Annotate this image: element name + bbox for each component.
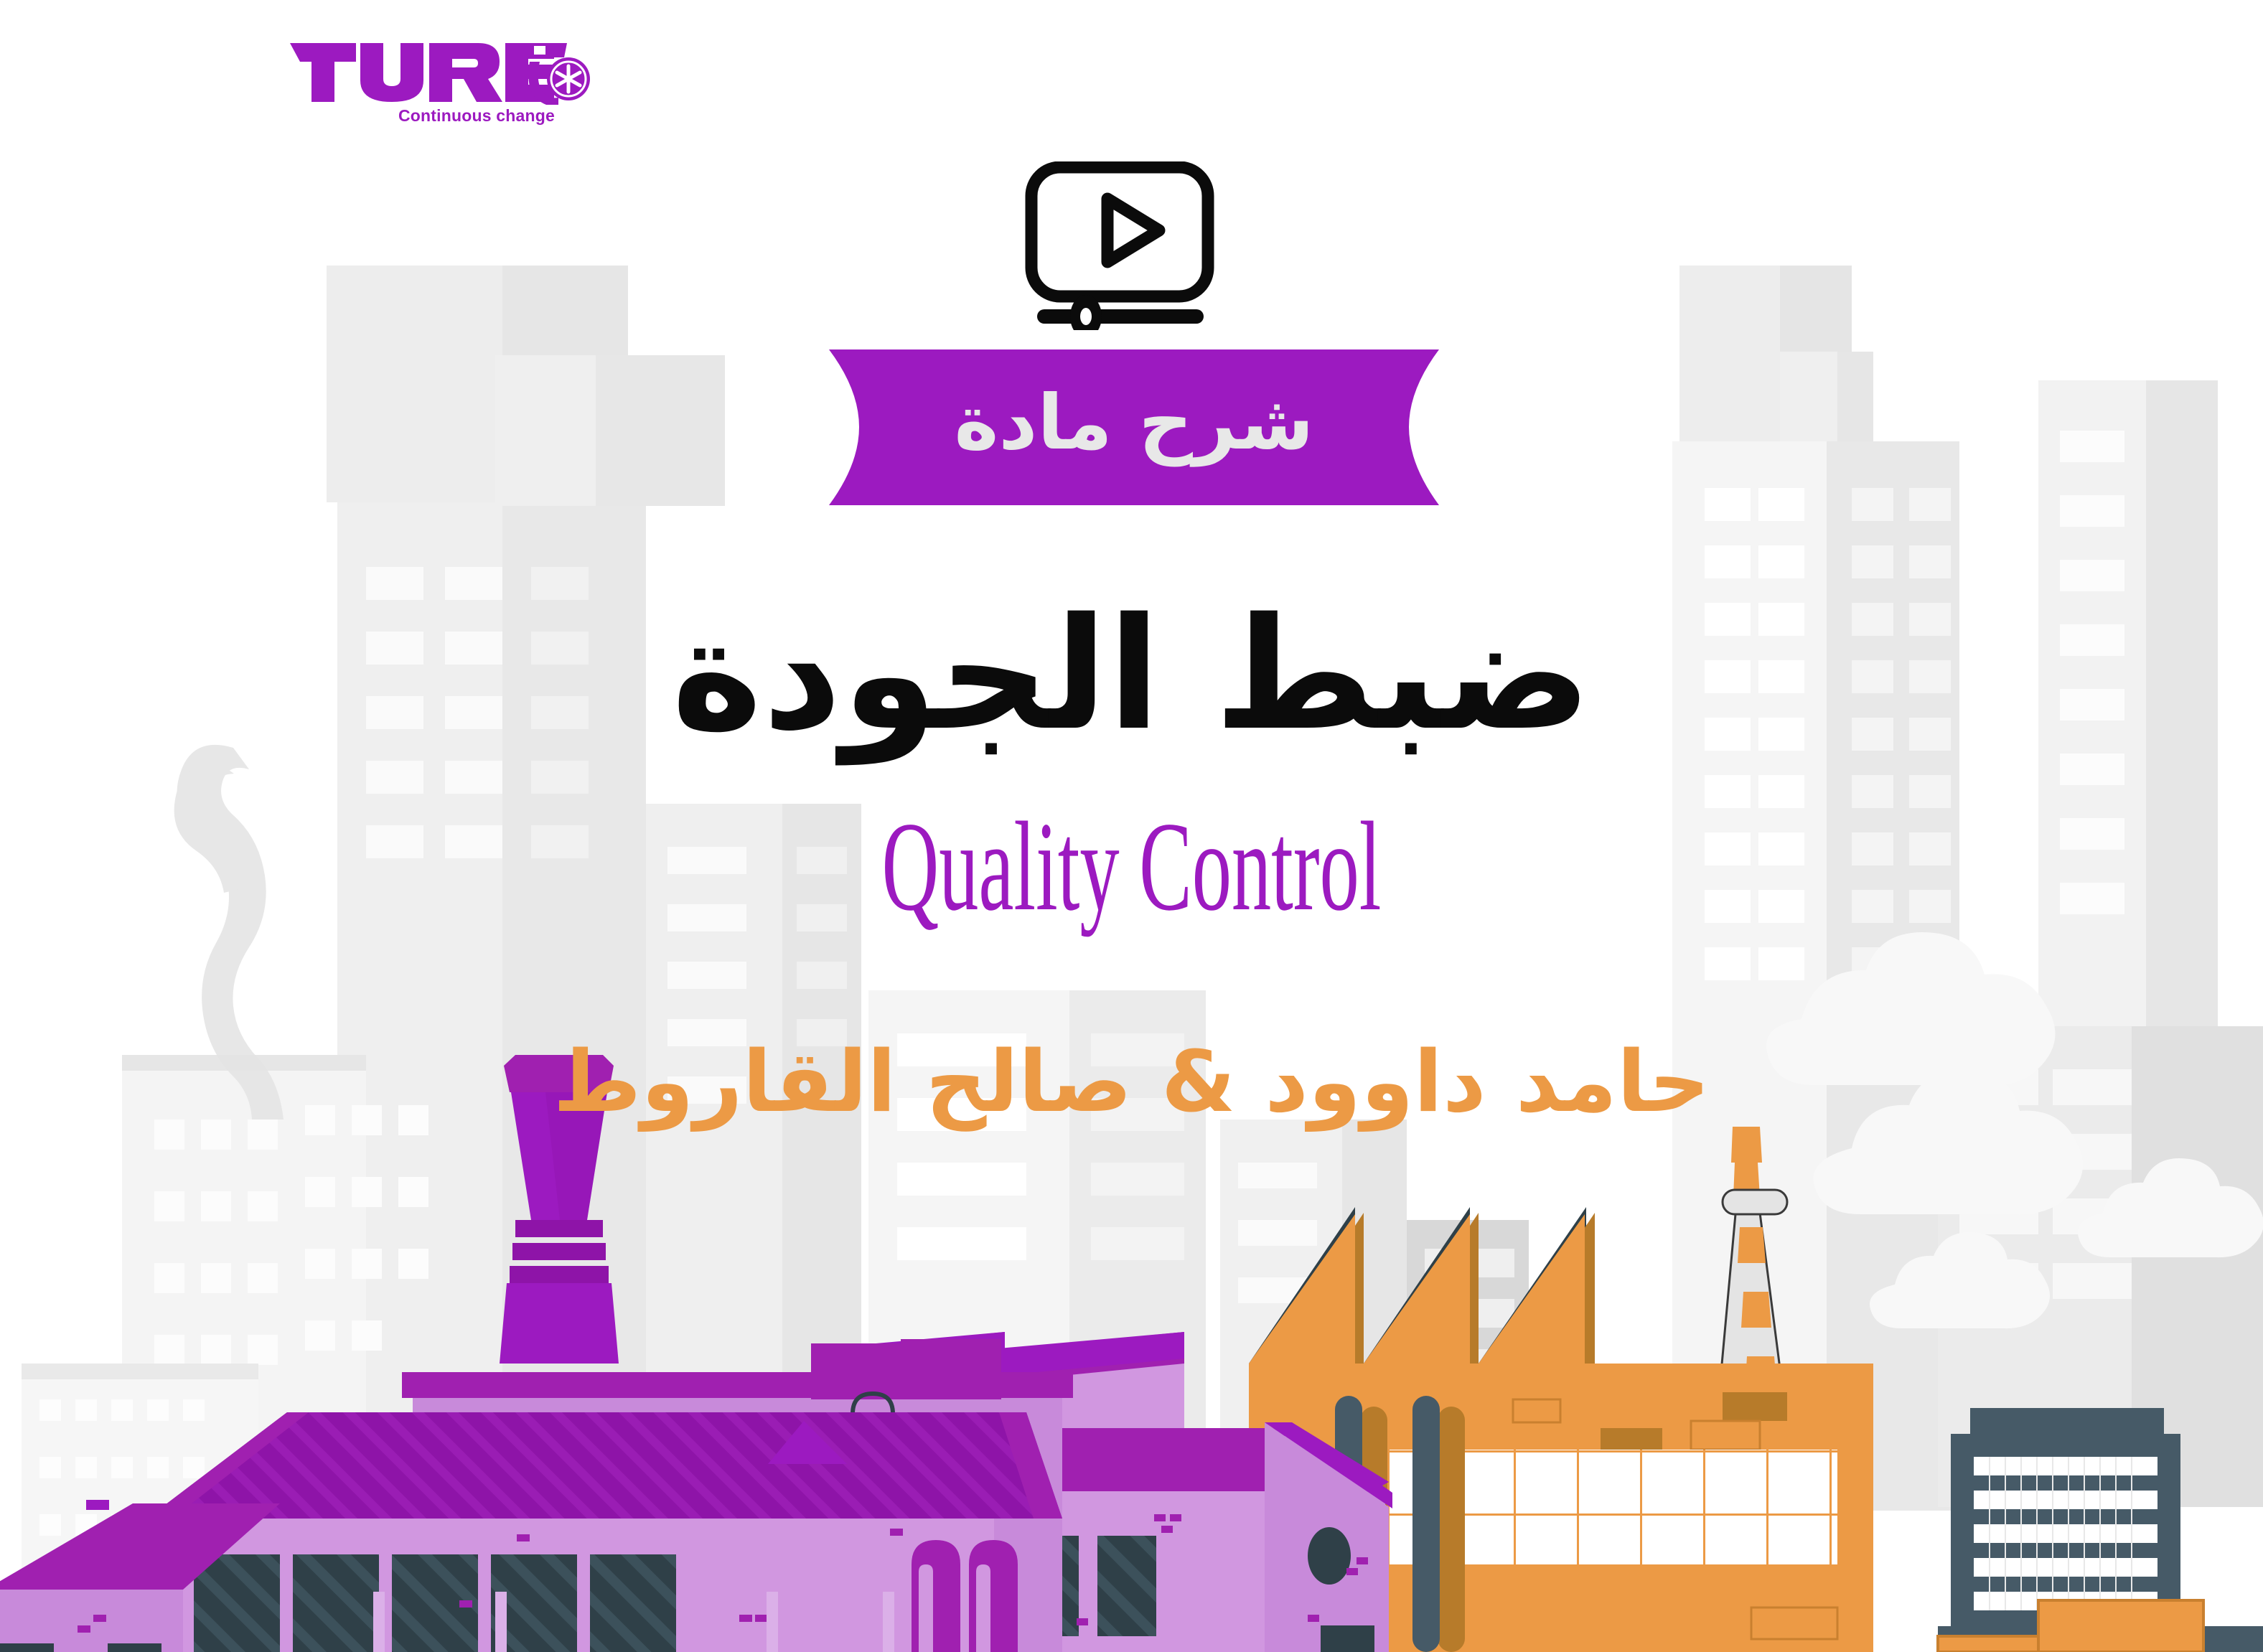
page-title-english: Quality Control xyxy=(430,802,1833,930)
banner-label: شرح مادة xyxy=(829,349,1439,505)
logo-tagline: Continuous change xyxy=(358,106,595,126)
video-play-icon[interactable] xyxy=(1023,161,1217,330)
page-title-arabic: ضبط الجودة xyxy=(0,597,2263,751)
play-triangle-icon xyxy=(1107,199,1159,262)
turbo-wordmark xyxy=(290,40,591,105)
brand-logo[interactable]: Continuous change xyxy=(290,40,649,133)
authors-line: حامد داوود & صالح القاروط xyxy=(0,1039,2263,1124)
purple-factory xyxy=(147,1055,1073,1652)
poster-canvas: Continuous change شرح مادة ضبط الجودة Qu… xyxy=(0,0,2263,1652)
section-banner: شرح مادة xyxy=(829,349,1439,505)
office-building xyxy=(1938,1408,2263,1652)
